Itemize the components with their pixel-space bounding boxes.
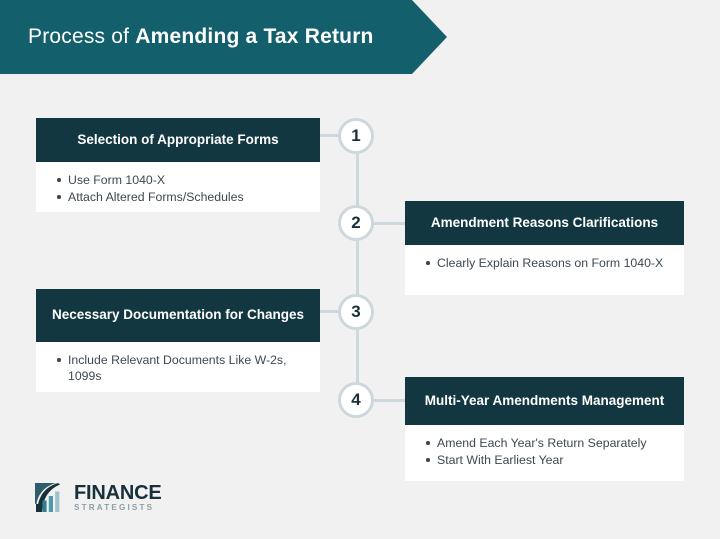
list-item: Clearly Explain Reasons on Form 1040-X <box>437 255 672 271</box>
step-number-circle-4[interactable]: 4 <box>338 382 374 418</box>
page-title-bold: Amending a Tax Return <box>135 25 373 48</box>
page-title: Process of Amending a Tax Return <box>0 25 374 49</box>
step-card-1: Selection of Appropriate Forms Use Form … <box>36 118 320 212</box>
step-body-3: Include Relevant Documents Like W-2s, 10… <box>36 342 320 392</box>
step-title-1: Selection of Appropriate Forms <box>36 118 320 162</box>
spine-segment-3-4 <box>356 330 359 385</box>
connector-step-1 <box>320 134 340 137</box>
step-number-label-2: 2 <box>351 213 360 233</box>
logo-secondary-text: STRATEGISTS <box>74 504 162 512</box>
list-item: Attach Altered Forms/Schedules <box>68 189 308 205</box>
connector-step-4 <box>373 399 405 402</box>
spine-segment-1-2 <box>356 154 359 209</box>
page-title-light: Process of <box>28 25 135 48</box>
step-body-4: Amend Each Year's Return Separately Star… <box>405 425 684 481</box>
step-bullet-list-1: Use Form 1040-X Attach Altered Forms/Sch… <box>48 172 308 205</box>
step-number-circle-2[interactable]: 2 <box>338 205 374 241</box>
connector-step-2 <box>373 222 405 225</box>
step-number-circle-1[interactable]: 1 <box>338 118 374 154</box>
step-title-3: Necessary Documentation for Changes <box>36 289 320 342</box>
list-item: Include Relevant Documents Like W-2s, 10… <box>68 352 308 384</box>
list-item: Start With Earliest Year <box>437 452 672 468</box>
step-title-2: Amendment Reasons Clarifications <box>405 201 684 245</box>
step-number-circle-3[interactable]: 3 <box>338 294 374 330</box>
step-number-label-4: 4 <box>351 390 360 410</box>
list-item: Use Form 1040-X <box>68 172 308 188</box>
bar-chart-swoosh-icon <box>34 482 68 513</box>
step-card-3: Necessary Documentation for Changes Incl… <box>36 289 320 392</box>
step-number-label-3: 3 <box>351 302 360 322</box>
list-item: Amend Each Year's Return Separately <box>437 435 672 451</box>
step-title-4: Multi-Year Amendments Management <box>405 377 684 425</box>
connector-step-3 <box>320 310 340 313</box>
step-bullet-list-3: Include Relevant Documents Like W-2s, 10… <box>48 352 308 384</box>
logo-text: FINANCE STRATEGISTS <box>74 483 162 512</box>
step-card-2: Amendment Reasons Clarifications Clearly… <box>405 201 684 295</box>
spine-segment-2-3 <box>356 241 359 298</box>
step-bullet-list-2: Clearly Explain Reasons on Form 1040-X <box>417 255 672 271</box>
brand-logo[interactable]: FINANCE STRATEGISTS <box>34 482 162 513</box>
logo-primary-text: FINANCE <box>74 483 162 503</box>
header-banner: Process of Amending a Tax Return <box>0 0 447 74</box>
step-body-1: Use Form 1040-X Attach Altered Forms/Sch… <box>36 162 320 212</box>
step-card-4: Multi-Year Amendments Management Amend E… <box>405 377 684 481</box>
step-body-2: Clearly Explain Reasons on Form 1040-X <box>405 245 684 295</box>
step-bullet-list-4: Amend Each Year's Return Separately Star… <box>417 435 672 468</box>
step-number-label-1: 1 <box>351 126 360 146</box>
